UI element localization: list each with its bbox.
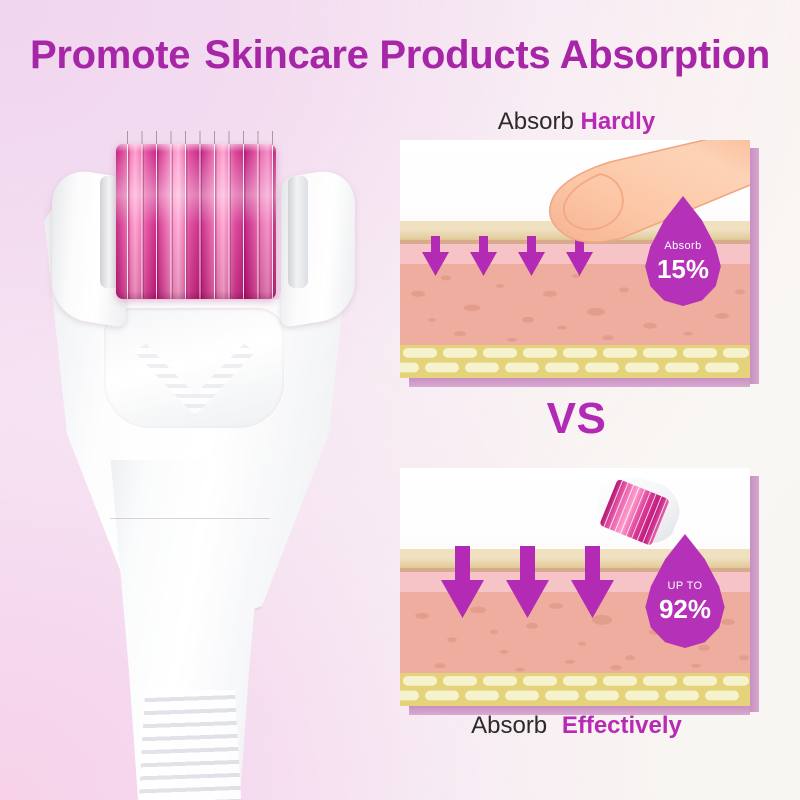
roller-drum-highlight [116,144,276,152]
panel-shadow-bottom [409,378,750,387]
derma-roller-product-image [38,130,378,800]
panel-frame: Absorb 15% [400,140,750,378]
page-title-word-1: Promote [30,33,190,77]
page-title-word-2: Skincare Products Absorption [204,33,770,77]
absorption-droplet-92: UP TO 92% [640,534,730,648]
bottom-label-prefix: Absorb [471,712,547,739]
absorption-droplet-15: Absorb 15% [640,196,726,306]
bottom-comparison-label: Absorb Effectively [404,712,749,740]
infographic-canvas: PromoteSkincare Products Absorption Abso… [0,0,800,800]
panel-frame: UP TO 92% [400,468,750,706]
droplet-value: 92% [640,594,730,625]
droplet-caption: UP TO [640,580,730,592]
panel-absorb-hardly: Absorb 15% [400,140,750,378]
panel-absorb-effectively: UP TO 92% [400,468,750,706]
panel-shadow-right [750,476,759,712]
top-label-prefix: Absorb [498,108,574,135]
top-comparison-label: Absorb Hardly [404,108,749,136]
droplet-value: 15% [640,254,726,285]
bottom-label-highlight: Effectively [562,712,682,739]
top-label-highlight: Hardly [581,108,656,135]
roller-drum-shading [116,291,276,299]
roller-handle-seam [110,518,270,519]
panel-shadow-right [750,148,759,384]
vs-divider-label: VS [404,394,749,444]
roller-axle-cap-right [288,176,308,288]
roller-needle-drum [116,144,276,299]
droplet-caption: Absorb [640,240,726,252]
page-title: PromoteSkincare Products Absorption [0,33,800,78]
roller-disc-separators [116,144,276,299]
